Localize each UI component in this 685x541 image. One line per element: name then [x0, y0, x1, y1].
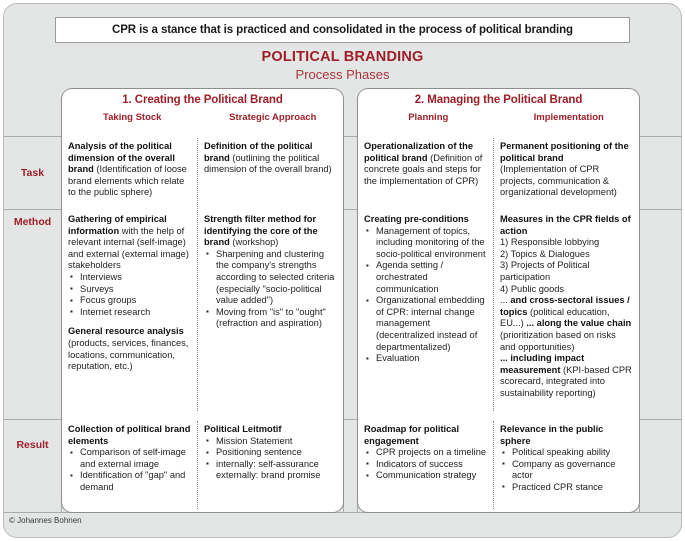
phase-2-header-panel: 2. Managing the Political Brand Planning…	[357, 88, 640, 137]
row-label-result: Result	[4, 439, 61, 451]
list-item: Evaluation	[364, 353, 491, 365]
list-item: Agenda setting / orchestrated communicat…	[364, 260, 491, 295]
cell-method-taking-stock-bullets: Interviews Surveys Focus groups Internet…	[68, 272, 195, 318]
cell-result-strategic-approach: Political Leitmotif Mission Statement Po…	[204, 424, 337, 482]
list-item: CPR projects on a timeline	[364, 447, 491, 459]
list-item: Internet research	[68, 307, 195, 319]
phase-2-col-2-title: Implementation	[499, 112, 640, 123]
title-block: POLITICAL BRANDING Process Phases	[0, 49, 685, 83]
cell-result-taking-stock-bullets: Comparison of self-image and external im…	[68, 447, 195, 493]
cell-result-taking-stock: Collection of political brand elements C…	[68, 424, 195, 494]
cell-method-strategic-approach: Strength filter method for identifying t…	[204, 214, 337, 330]
headline-banner-text: CPR is a stance that is practiced and co…	[112, 24, 573, 36]
phase-1-title: 1. Creating the Political Brand	[62, 89, 343, 106]
list-item: Identification of "gap" and demand	[68, 470, 195, 493]
list-item: Comparison of self-image and external im…	[68, 447, 195, 470]
cell-method-implementation-run1d: ... along the value chain	[526, 318, 631, 328]
cell-method-planning-bullets: Management of topics, including monitori…	[364, 226, 491, 365]
phase-2-subcolumn-titles: Planning Implementation	[358, 112, 639, 123]
phase-1-column-divider	[197, 138, 198, 411]
page-subtitle: Process Phases	[0, 67, 685, 83]
list-item: Communication strategy	[364, 470, 491, 482]
phase-1-result-divider	[197, 421, 198, 509]
cell-method-implementation: Measures in the CPR fields of action 1) …	[500, 214, 633, 400]
diagram-root: CPR is a stance that is practiced and co…	[0, 0, 685, 541]
list-item: Focus groups	[68, 295, 195, 307]
list-item: internally: self-assurance externally: b…	[204, 459, 337, 482]
page-title: POLITICAL BRANDING	[0, 49, 685, 66]
cell-task-strategic-approach: Definition of the political brand (outli…	[204, 141, 336, 176]
phase-grid: 1. Creating the Political Brand Taking S…	[4, 88, 682, 513]
cell-method-implementation-lead: Measures in the CPR fields of action	[500, 214, 631, 236]
cell-method-planning-lead: Creating pre-conditions	[364, 214, 469, 224]
cell-task-planning: Operationalization of the political bran…	[364, 141, 490, 187]
cell-method-implementation-run2: (prioritization based on risks and oppor…	[500, 330, 633, 353]
list-item: Company as governance actor	[500, 459, 633, 482]
list-item: Surveys	[68, 284, 195, 296]
cell-result-implementation-lead: Relevance in the public sphere	[500, 424, 603, 446]
phase-2-result-divider	[493, 421, 494, 509]
phase-2-column-divider	[493, 138, 494, 411]
cell-result-implementation-bullets: Political speaking ability Company as go…	[500, 447, 633, 493]
list-item: Organizational embedding of CPR: interna…	[364, 295, 491, 353]
list-item: Positioning sentence	[204, 447, 337, 459]
cell-result-strategic-approach-bullets: Mission Statement Positioning sentence i…	[204, 436, 337, 482]
list-item: Moving from "is" to "ought" (refraction …	[204, 307, 337, 330]
cell-method-implementation-item-4: 4) Public goods	[500, 284, 633, 296]
cell-task-implementation-rest: (Implementation of CPR projects, communi…	[500, 164, 617, 197]
cell-result-implementation: Relevance in the public sphere Political…	[500, 424, 633, 494]
list-item: Indicators of success	[364, 459, 491, 471]
phase-2-col-1-title: Planning	[358, 112, 499, 123]
cell-method-taking-stock: Gathering of empirical information with …	[68, 214, 195, 373]
cell-task-implementation-lead: Permanent positioning of the political b…	[500, 141, 629, 163]
row-label-task: Task	[4, 167, 61, 179]
cell-method-strategic-approach-rest: (workshop)	[230, 237, 279, 247]
copyright-notice: © Johannes Bohnen	[9, 516, 82, 525]
cell-task-taking-stock: Analysis of the political dimension of t…	[68, 141, 194, 199]
cell-method-taking-stock-rest2: (products, services, finances, locations…	[68, 338, 188, 371]
cell-task-implementation: Permanent positioning of the political b…	[500, 141, 632, 199]
cell-method-strategic-approach-bullets: Sharpening and clustering the company's …	[204, 249, 337, 330]
list-item: Practiced CPR stance	[500, 482, 633, 494]
spacer	[68, 318, 195, 326]
cell-result-taking-stock-lead: Collection of political brand elements	[68, 424, 190, 446]
cell-result-planning-bullets: CPR projects on a timeline Indicators of…	[364, 447, 491, 482]
phase-1-col-1-title: Taking Stock	[62, 112, 203, 123]
cell-result-strategic-approach-lead: Political Leitmotif	[204, 424, 281, 434]
cell-method-implementation-item-2: 2) Topics & Dialogues	[500, 249, 633, 261]
phase-2-title: 2. Managing the Political Brand	[358, 89, 639, 106]
list-item: Mission Statement	[204, 436, 337, 448]
cell-method-implementation-item-3: 3) Projects of Political participation	[500, 260, 633, 283]
headline-banner: CPR is a stance that is practiced and co…	[55, 17, 630, 43]
cell-method-implementation-item-1: 1) Responsible lobbying	[500, 237, 633, 249]
cell-result-planning: Roadmap for political engagement CPR pro…	[364, 424, 491, 482]
list-item: Interviews	[68, 272, 195, 284]
cell-result-planning-lead: Roadmap for political engagement	[364, 424, 459, 446]
cell-method-implementation-run1a: ...	[500, 295, 510, 305]
list-item: Political speaking ability	[500, 447, 633, 459]
phase-1-col-2-title: Strategic Approach	[203, 112, 344, 123]
row-label-method: Method	[4, 216, 61, 228]
cell-method-taking-stock-lead2: General resource analysis	[68, 326, 184, 336]
phase-1-subcolumn-titles: Taking Stock Strategic Approach	[62, 112, 343, 123]
list-item: Sharpening and clustering the company's …	[204, 249, 337, 307]
phase-1-header-panel: 1. Creating the Political Brand Taking S…	[61, 88, 344, 137]
list-item: Management of topics, including monitori…	[364, 226, 491, 261]
cell-method-planning: Creating pre-conditions Management of to…	[364, 214, 491, 365]
